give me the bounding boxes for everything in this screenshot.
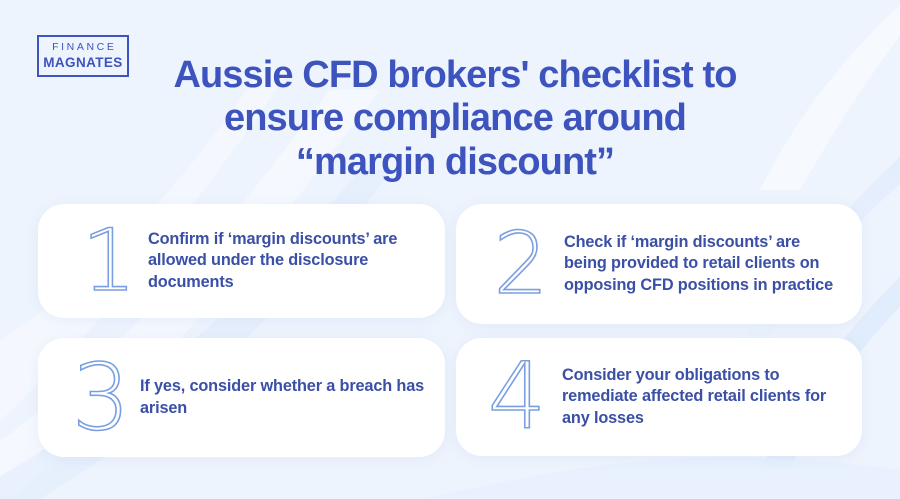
checklist-card-3[interactable]: 3 If yes, consider whether a breach has … bbox=[38, 338, 445, 457]
title-line-2: ensure compliance around bbox=[140, 97, 770, 140]
step-number-4: 4 bbox=[480, 359, 554, 434]
step-text-1: Confirm if ‘margin discounts’ are allowe… bbox=[146, 229, 445, 293]
checklist-card-1[interactable]: 1 Confirm if ‘margin discounts’ are allo… bbox=[38, 204, 445, 318]
checklist-card-grid: 1 Confirm if ‘margin discounts’ are allo… bbox=[38, 204, 862, 457]
title-line-1: Aussie CFD brokers' checklist to bbox=[140, 54, 770, 97]
logo-text-magnates: MAGNATES bbox=[43, 55, 122, 71]
checklist-card-4[interactable]: 4 Consider your obligations to remediate… bbox=[456, 338, 862, 456]
step-number-1: 1 bbox=[72, 226, 146, 297]
step-number-3: 3 bbox=[64, 360, 138, 435]
step-number-2: 2 bbox=[484, 229, 558, 300]
swoosh-right-3 bbox=[760, 0, 900, 190]
step-text-4: Consider your obligations to remediate a… bbox=[554, 365, 862, 429]
swoosh-bottom bbox=[420, 458, 900, 499]
step-text-2: Check if ‘margin discounts’ are being pr… bbox=[558, 232, 862, 296]
title-line-3: “margin discount” bbox=[140, 141, 770, 184]
step-text-3: If yes, consider whether a breach has ar… bbox=[138, 376, 445, 418]
checklist-card-2[interactable]: 2 Check if ‘margin discounts’ are being … bbox=[456, 204, 862, 324]
page-title: Aussie CFD brokers' checklist to ensure … bbox=[140, 54, 770, 184]
logo-text-finance: FINANCE bbox=[50, 42, 117, 54]
finance-magnates-logo[interactable]: FINANCE MAGNATES bbox=[37, 35, 129, 77]
